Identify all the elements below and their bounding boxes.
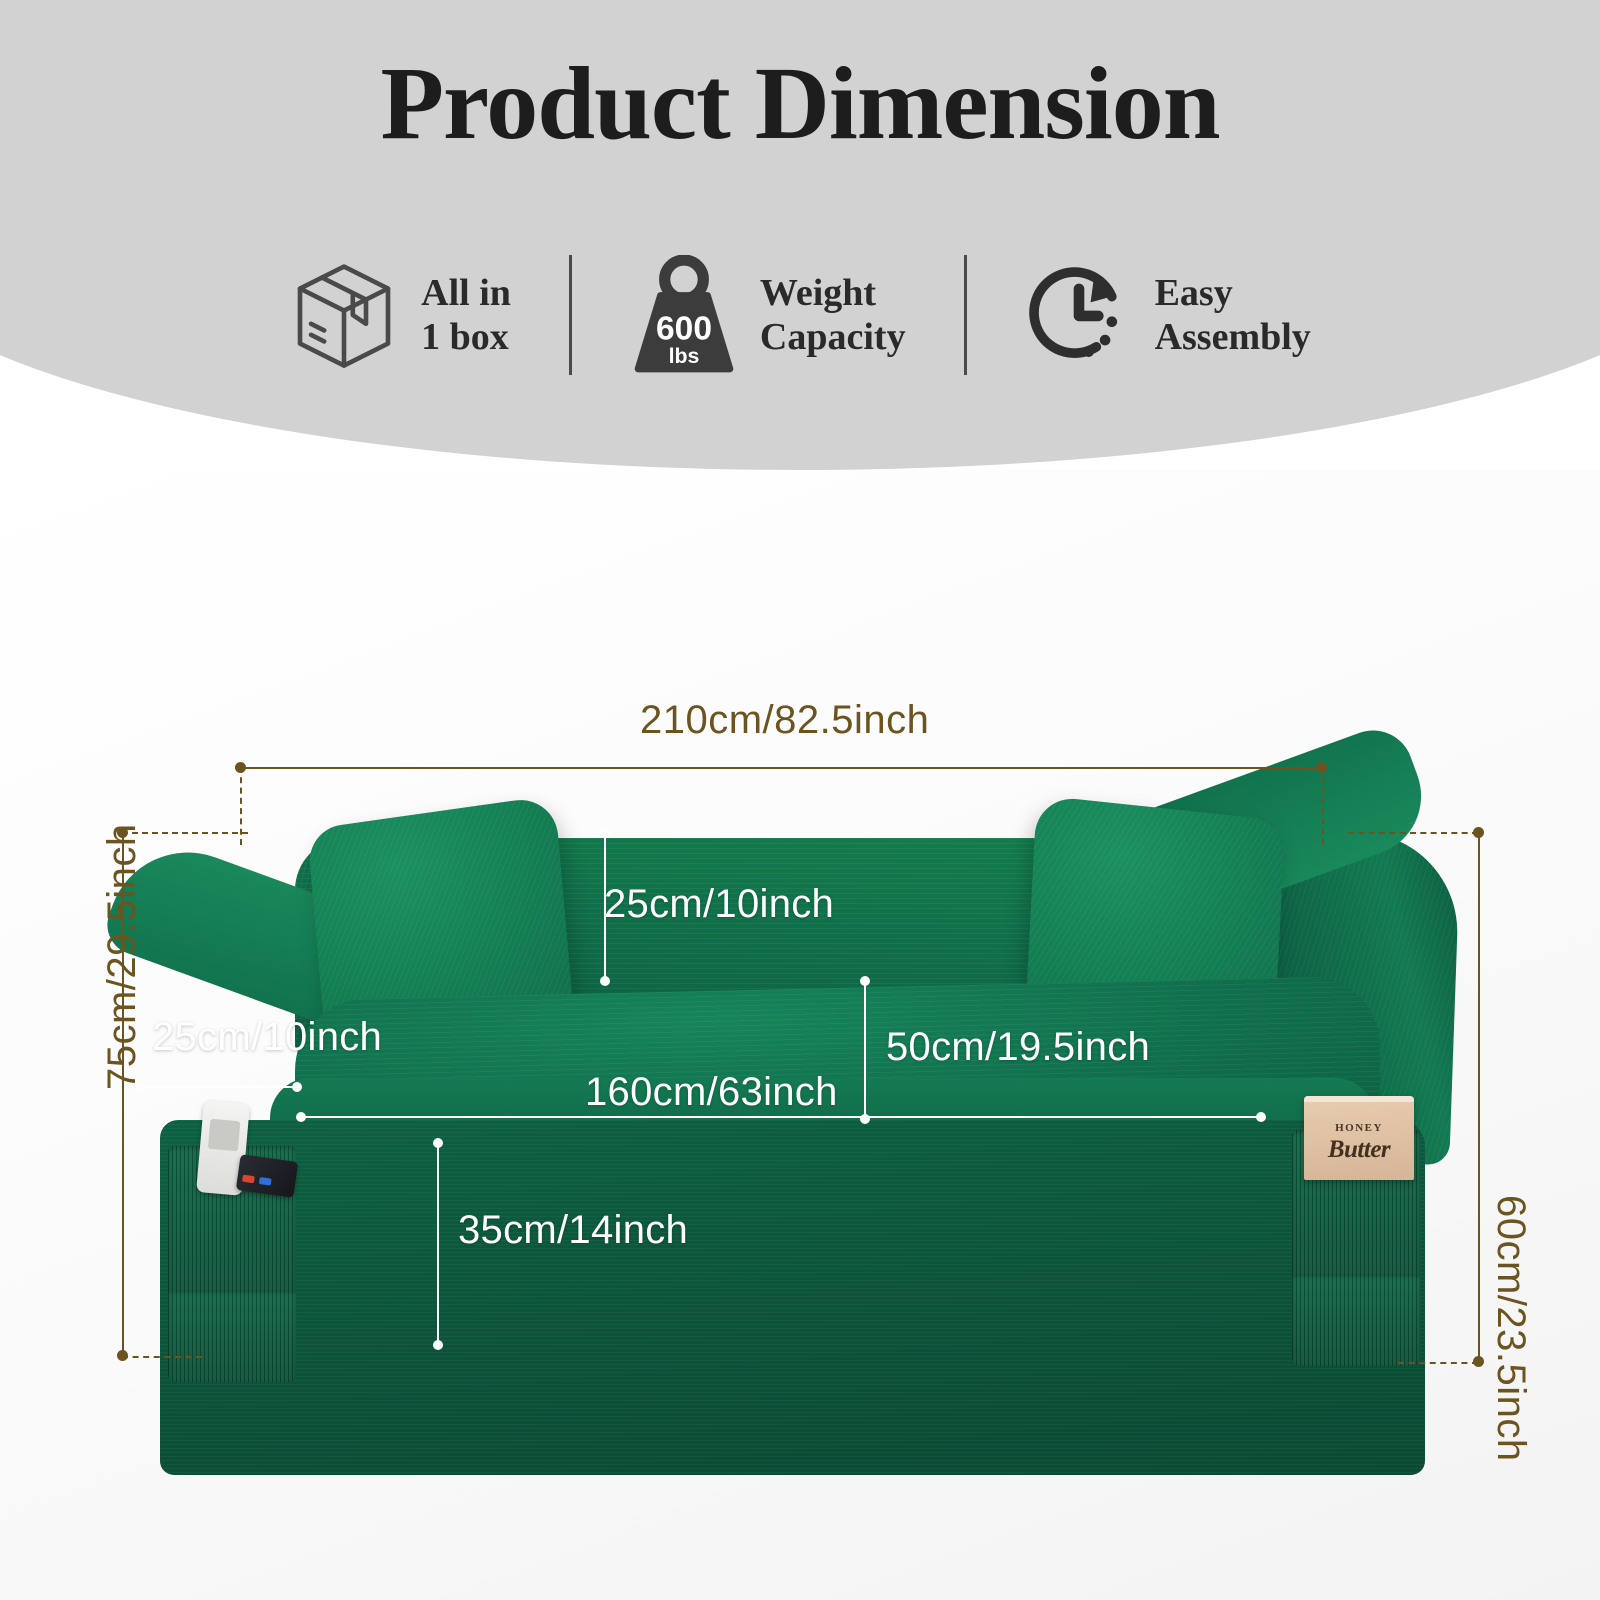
sofa-base [160, 1120, 1425, 1475]
weight-badge-unit: lbs [669, 344, 700, 368]
box-icon [289, 255, 399, 375]
dimension-line-seat-width [300, 1116, 1260, 1118]
feature-divider [569, 255, 572, 375]
feature-label: Easy Assembly [1155, 271, 1311, 359]
dimension-ext-depth-top [1348, 832, 1478, 834]
side-pocket-right-lower [1292, 1274, 1420, 1366]
dimension-label-seat-depth: 50cm/19.5inch [886, 1025, 1150, 1070]
clock-arrow-icon [1023, 255, 1133, 375]
dimension-line-base-height [437, 1142, 439, 1344]
dimension-dot-seatdepth-bottom [860, 1114, 870, 1124]
dimension-line-overall-depth [1478, 832, 1480, 1362]
dimension-ext-height-bottom [122, 1356, 202, 1358]
dimension-ext-depth-bottom [1398, 1362, 1478, 1364]
dimension-label-seat-width: 160cm/63inch [585, 1070, 838, 1115]
dimension-dot-backrest-top [600, 828, 610, 838]
feature-label: All in 1 box [421, 271, 511, 359]
product-dimension-infographic: Product Dimension All in [0, 0, 1600, 1600]
dimension-dot-seatdepth-top [860, 976, 870, 986]
product-image-area: HONEY Butter 210cm/82.5inch 75cm/29.5inc… [0, 470, 1600, 1600]
dimension-label-overall-width: 210cm/82.5inch [640, 698, 929, 743]
side-pocket-left-lower [168, 1290, 296, 1382]
card-stripe-red [242, 1175, 255, 1184]
dimension-line-overall-height [122, 832, 124, 1356]
feature-badges: All in 1 box 600 lbs Weight Capacity [0, 230, 1600, 400]
feature-easy-assembly: Easy Assembly [1013, 255, 1321, 375]
dimension-dot-backrest-bottom [600, 976, 610, 986]
dimension-dot-base-top [433, 1138, 443, 1148]
feature-all-in-one-box: All in 1 box [279, 255, 521, 375]
remote-screen [208, 1119, 241, 1152]
dimension-label-backrest-height: 25cm/10inch [604, 882, 834, 927]
header-band: Product Dimension All in [0, 0, 1600, 470]
book-page-edge [1304, 1096, 1414, 1102]
weight-badge-value: 600 [656, 310, 712, 347]
book-title: Butter [1304, 1136, 1414, 1164]
page-title: Product Dimension [0, 48, 1600, 160]
card-stripe-blue [259, 1177, 272, 1186]
book-brand: HONEY [1304, 1122, 1414, 1134]
dimension-ext-height-top [122, 832, 248, 834]
dimension-line-seat-depth [864, 980, 866, 1118]
dimension-ext-width-right [1322, 767, 1324, 845]
feature-label: Weight Capacity [760, 271, 906, 359]
book-in-pocket: HONEY Butter [1304, 1096, 1414, 1180]
weight-icon: 600 lbs [628, 255, 738, 375]
dimension-label-arm-width: 25cm/10inch [152, 1015, 382, 1060]
dimension-label-base-height: 35cm/14inch [458, 1208, 688, 1253]
feature-weight-capacity: 600 lbs Weight Capacity [618, 255, 916, 375]
dimension-line-arm-width [140, 1086, 298, 1088]
dimension-dot-arm-right [292, 1082, 302, 1092]
dimension-dot-seat-left [296, 1112, 306, 1122]
dimension-line-overall-width [240, 767, 1322, 769]
feature-divider [964, 255, 967, 375]
dimension-dot-seat-right [1256, 1112, 1266, 1122]
dimension-dot-base-bottom [433, 1340, 443, 1350]
dimension-label-overall-depth: 60cm/23.5inch [1488, 1195, 1533, 1462]
dimension-dot-arm-left [136, 1082, 146, 1092]
